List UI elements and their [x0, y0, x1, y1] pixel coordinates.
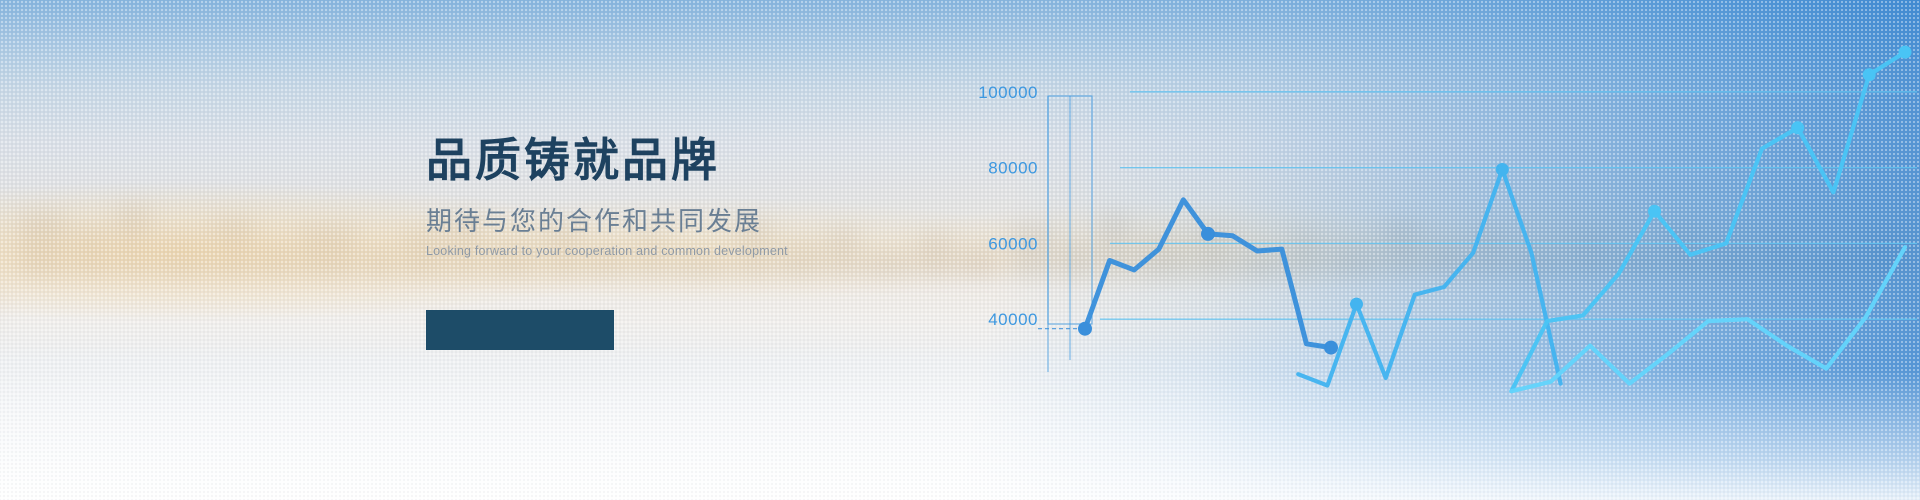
svg-text:100000: 100000	[978, 83, 1038, 102]
english-tagline: Looking forward to your cooperation and …	[426, 244, 896, 258]
cta-button[interactable]	[426, 310, 614, 350]
page-subtitle: 期待与您的合作和共同发展	[426, 208, 896, 235]
svg-text:40000: 40000	[988, 310, 1038, 329]
banner-copy: 品质铸就品牌 期待与您的合作和共同发展 Looking forward to y…	[426, 137, 896, 258]
chart-gridlines	[1038, 92, 1917, 329]
page-title: 品质铸就品牌	[426, 137, 896, 184]
svg-text:60000: 60000	[988, 234, 1038, 253]
chart-series	[1078, 46, 1912, 392]
promo-banner: 品质铸就品牌 期待与您的合作和共同发展 Looking forward to y…	[0, 0, 1920, 500]
chart-y-axis-labels: 100000800006000040000	[978, 83, 1038, 329]
line-chart: 100000800006000040000	[930, 0, 1920, 500]
svg-text:80000: 80000	[988, 159, 1038, 178]
